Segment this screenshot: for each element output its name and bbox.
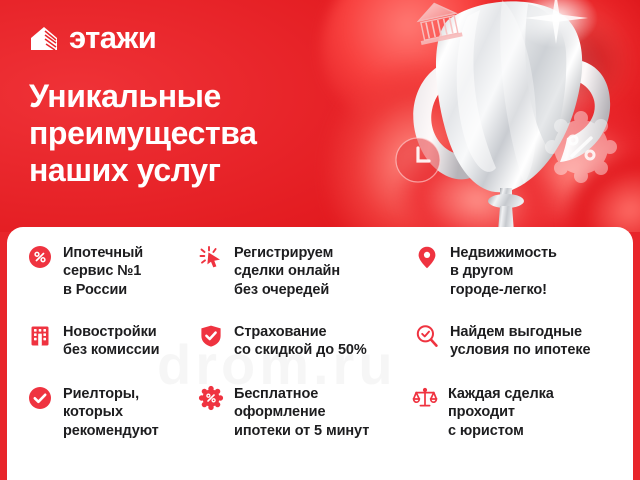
- feature-text: Риелторы, которых рекомендуют: [63, 385, 159, 440]
- check-circle-icon: [28, 386, 52, 410]
- trophy-illustration: [360, 0, 640, 232]
- feature-item[interactable]: Недвижимость в другом городе-легко!: [415, 244, 557, 299]
- feature-text: Регистрируем сделки онлайн без очередей: [234, 244, 340, 299]
- percent-seal-icon: [199, 386, 223, 410]
- feature-item[interactable]: Каждая сделка проходит с юристом: [413, 385, 554, 440]
- trophy-knob: [488, 194, 524, 208]
- feature-item[interactable]: Найдем выгодные условия по ипотеке: [415, 323, 590, 360]
- brand-name: этажи: [69, 22, 156, 53]
- features-columns: Ипотечный сервис №1 в России: [7, 227, 633, 480]
- building-logo-icon: [30, 25, 60, 51]
- feature-text: Новостройки без комиссии: [63, 323, 159, 360]
- feature-item[interactable]: Риелторы, которых рекомендуют: [28, 385, 159, 440]
- feature-text: Ипотечный сервис №1 в России: [63, 244, 143, 299]
- feature-text: Страхование со скидкой до 50%: [234, 323, 367, 360]
- feature-item[interactable]: Страхование со скидкой до 50%: [199, 323, 367, 360]
- feature-item[interactable]: Регистрируем сделки онлайн без очередей: [199, 244, 340, 299]
- features-panel: drom.ru Ипотечный сервис №1 в России: [7, 227, 633, 480]
- percent-seal-icon: [545, 111, 617, 183]
- brand-logo[interactable]: этажи: [30, 22, 156, 53]
- page-title: Уникальные преимущества наших услуг: [29, 78, 359, 189]
- hero-banner: этажи Уникальные преимущества наших услу…: [0, 0, 640, 232]
- feature-item[interactable]: Ипотечный сервис №1 в России: [28, 244, 143, 299]
- column-left: Ипотечный сервис №1 в России: [7, 227, 199, 480]
- column-middle: Регистрируем сделки онлайн без очередей …: [199, 227, 407, 480]
- building-icon: [28, 324, 52, 348]
- feature-text: Бесплатное оформление ипотеки от 5 минут: [234, 385, 369, 440]
- map-pin-icon: [415, 245, 439, 269]
- search-check-icon: [415, 324, 439, 348]
- column-right: Недвижимость в другом городе-легко! Найд…: [407, 227, 633, 480]
- percent-circle-icon: [28, 245, 52, 269]
- feature-item[interactable]: Новостройки без комиссии: [28, 323, 159, 360]
- shield-check-icon: [199, 324, 223, 348]
- feature-text: Недвижимость в другом городе-легко!: [450, 244, 557, 299]
- scales-justice-icon: [413, 386, 437, 410]
- clock-icon: [396, 138, 440, 182]
- feature-text: Найдем выгодные условия по ипотеке: [450, 323, 590, 360]
- cursor-click-icon: [199, 245, 223, 269]
- feature-item[interactable]: Бесплатное оформление ипотеки от 5 минут: [199, 385, 369, 440]
- feature-text: Каждая сделка проходит с юристом: [448, 385, 554, 440]
